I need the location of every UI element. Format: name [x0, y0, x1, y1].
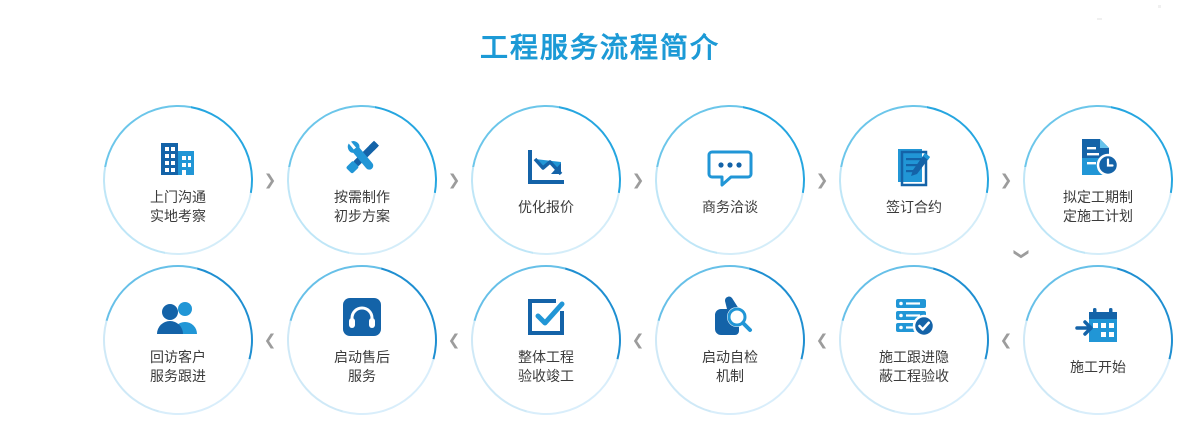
arrow-right-2: ❯ — [442, 100, 466, 260]
node-label: 启动自检 机制 — [702, 348, 758, 386]
users-return-icon — [154, 294, 202, 340]
arrow-left-2: ❮ — [442, 260, 466, 420]
node-label: 施工开始 — [1070, 358, 1126, 377]
chart-down-icon — [523, 144, 569, 190]
process-node-1[interactable]: 上门沟通 实地考察 — [98, 100, 258, 260]
schedule-clock-icon — [1075, 134, 1121, 180]
process-node-5[interactable]: 签订合约 — [834, 100, 994, 260]
node-label: 施工跟进隐 蔽工程验收 — [879, 348, 949, 386]
node-label: 商务洽谈 — [702, 198, 758, 217]
checklist-icon — [524, 294, 568, 340]
contract-pen-icon — [892, 144, 936, 190]
arrow-right-4: ❯ — [810, 100, 834, 260]
process-node-10[interactable]: 整体工程 验收竣工 — [466, 260, 626, 420]
process-node-6[interactable]: 拟定工期制 定施工计划 — [1018, 100, 1178, 260]
headset-icon — [340, 294, 384, 340]
arrow-left-1: ❮ — [258, 260, 282, 420]
process-node-3[interactable]: 优化报价 — [466, 100, 626, 260]
process-node-8[interactable]: 施工跟进隐 蔽工程验收 — [834, 260, 994, 420]
arrow-right-5: ❯ — [994, 100, 1018, 260]
process-node-2[interactable]: 按需制作 初步方案 — [282, 100, 442, 260]
arrow-left-4: ❮ — [810, 260, 834, 420]
chat-bubble-icon — [706, 144, 754, 190]
process-node-4[interactable]: 商务洽谈 — [650, 100, 810, 260]
building-icon — [155, 134, 201, 180]
process-node-12[interactable]: 回访客户 服务跟进 — [98, 260, 258, 420]
decor-speck-2 — [1158, 5, 1161, 8]
arrow-left-3: ❮ — [626, 260, 650, 420]
node-label: 上门沟通 实地考察 — [150, 188, 206, 226]
node-label: 按需制作 初步方案 — [334, 188, 390, 226]
page-title: 工程服务流程简介 — [0, 26, 1200, 66]
node-label: 签订合约 — [886, 198, 942, 217]
arrow-right-1: ❯ — [258, 100, 282, 260]
node-label: 拟定工期制 定施工计划 — [1063, 188, 1133, 226]
node-label: 优化报价 — [518, 198, 574, 217]
process-node-7[interactable]: 施工开始 — [1018, 260, 1178, 420]
process-node-9[interactable]: 启动自检 机制 — [650, 260, 810, 420]
process-node-11[interactable]: 启动售后 服务 — [282, 260, 442, 420]
node-label: 启动售后 服务 — [334, 348, 390, 386]
arrow-right-3: ❯ — [626, 100, 650, 260]
process-row-top: 上门沟通 实地考察 ❯ 按需制作 — [0, 100, 1200, 260]
decor-speck-1 — [1097, 18, 1102, 20]
arrow-left-5: ❮ — [994, 260, 1018, 420]
tools-icon — [338, 134, 386, 180]
calendar-start-icon — [1075, 304, 1121, 350]
node-label: 整体工程 验收竣工 — [518, 348, 574, 386]
node-label: 回访客户 服务跟进 — [150, 348, 206, 386]
inspect-search-icon — [707, 294, 753, 340]
process-row-bottom: 回访客户 服务跟进 ❮ 启动售后 服务 ❮ — [0, 260, 1200, 420]
server-check-icon — [891, 294, 937, 340]
